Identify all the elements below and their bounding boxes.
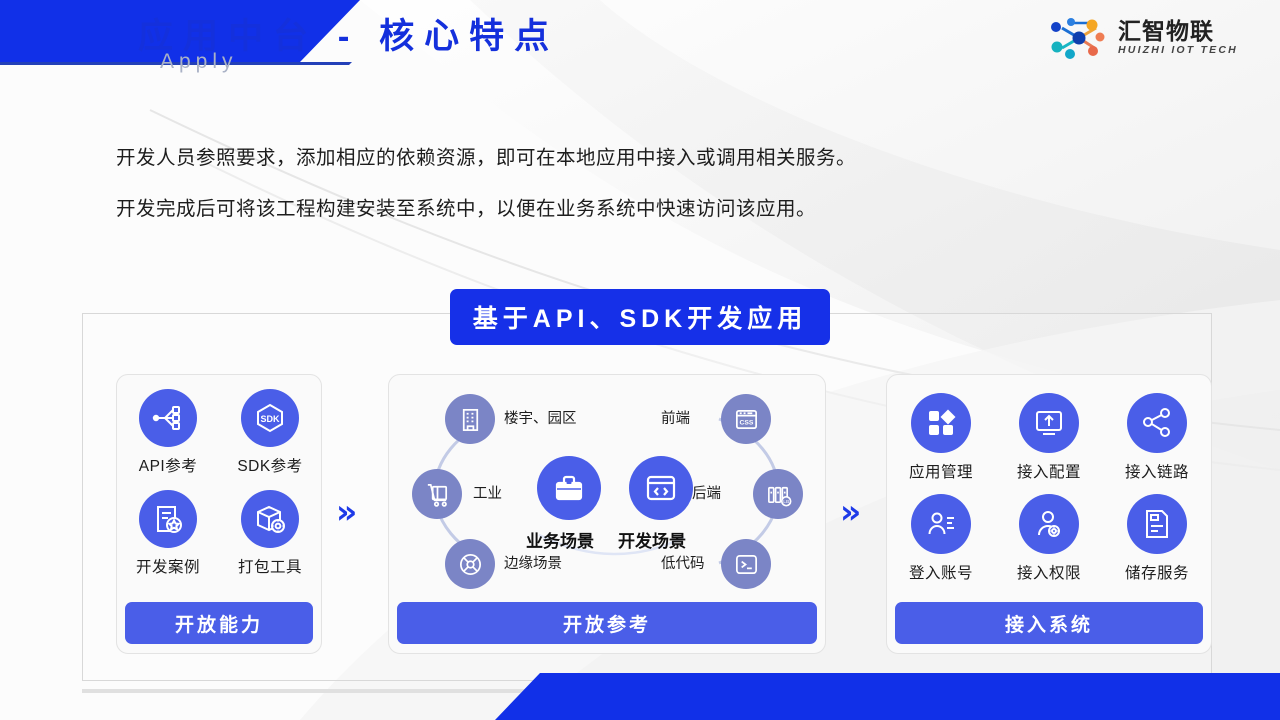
- card-access-system[interactable]: 应用管理 接入配置 接入链路: [886, 374, 1212, 654]
- body-paragraph-2: 开发完成后可将该工程构建安装至系统中，以便在业务系统中快速访问该应用。: [116, 192, 816, 221]
- share-nodes-icon: [1127, 393, 1187, 453]
- tile-label: 接入链路: [1125, 460, 1189, 482]
- chevron-right-icon-2: »: [840, 492, 855, 531]
- sdk-cube-icon: SDK: [241, 389, 299, 447]
- page-subtitle: Apply: [160, 50, 238, 74]
- satellite-building[interactable]: [445, 394, 495, 444]
- tile-sdk-reference[interactable]: SDK SDK参考: [228, 389, 312, 476]
- satellite-label-edge: 边缘场景: [504, 552, 562, 573]
- tile-api-reference[interactable]: API参考: [126, 389, 210, 476]
- api-branch-icon: [139, 389, 197, 447]
- tile-label: 应用管理: [909, 460, 973, 482]
- tile-access-link[interactable]: 接入链路: [1110, 393, 1204, 482]
- hub-dev-scenario[interactable]: [629, 456, 693, 520]
- satellite-label-frontend: 前端: [661, 407, 690, 428]
- tile-dev-case[interactable]: 开发案例: [126, 490, 210, 577]
- document-star-icon: [139, 490, 197, 548]
- satellite-label-backend: 后端: [692, 482, 721, 503]
- molecule-network-icon: [1048, 16, 1110, 60]
- tile-access-permission[interactable]: 接入权限: [1002, 494, 1096, 583]
- grid-blocks-icon: [911, 393, 971, 453]
- diagram-banner: 基于API、SDK开发应用: [450, 289, 830, 345]
- satellite-label-lowcode: 低代码: [661, 552, 705, 573]
- hub-label-dev: 开发场景: [618, 527, 686, 552]
- user-list-icon: [911, 494, 971, 554]
- card-open-capability[interactable]: API参考 SDK SDK参考 开发案例: [116, 374, 322, 654]
- svg-text:SDK: SDK: [260, 414, 280, 424]
- body-paragraph-1: 开发人员参照要求，添加相应的依赖资源，即可在本地应用中接入或调用相关服务。: [116, 141, 856, 170]
- package-gear-icon: [241, 490, 299, 548]
- tile-label: 登入账号: [909, 561, 973, 583]
- logo-name-en: HUIZHI IOT TECH: [1118, 43, 1238, 58]
- file-storage-icon: [1127, 494, 1187, 554]
- svg-text:CSS: CSS: [739, 419, 753, 426]
- tile-storage-service[interactable]: 储存服务: [1110, 494, 1204, 583]
- brand-logo: 汇智物联 HUIZHI IOT TECH: [1048, 12, 1258, 64]
- middle-card-button[interactable]: 开放参考: [397, 602, 817, 644]
- tile-label: 开发案例: [136, 555, 200, 577]
- tile-label: 接入配置: [1017, 460, 1081, 482]
- left-card-tiles: API参考 SDK SDK参考 开发案例: [117, 389, 321, 587]
- satellite-frontend[interactable]: CSS: [721, 394, 771, 444]
- tile-label: SDK参考: [237, 454, 302, 476]
- satellite-lowcode[interactable]: [721, 539, 771, 589]
- right-card-tiles: 应用管理 接入配置 接入链路: [887, 393, 1211, 593]
- satellite-backend[interactable]: LB: [753, 469, 803, 519]
- satellite-label-building: 楼宇、园区: [504, 407, 577, 428]
- tile-label: 接入权限: [1017, 561, 1081, 583]
- hub-business-scenario[interactable]: [537, 456, 601, 520]
- tile-label: API参考: [139, 454, 197, 476]
- tile-label: 打包工具: [238, 555, 302, 577]
- hub-label-business: 业务场景: [526, 527, 594, 552]
- left-card-button[interactable]: 开放能力: [125, 602, 313, 644]
- monitor-upload-icon: [1019, 393, 1079, 453]
- tile-app-management[interactable]: 应用管理: [894, 393, 988, 482]
- tile-access-config[interactable]: 接入配置: [1002, 393, 1096, 482]
- chevron-right-icon-1: »: [336, 492, 351, 531]
- tile-packaging-tool[interactable]: 打包工具: [228, 490, 312, 577]
- svg-text:LB: LB: [783, 499, 789, 505]
- satellite-industry[interactable]: [412, 469, 462, 519]
- satellite-edge[interactable]: [445, 539, 495, 589]
- slide-header: 应用中台 - 核心特点 Apply 汇智物联 HUIZHI IOT TECH: [0, 0, 1280, 72]
- tile-login-account[interactable]: 登入账号: [894, 494, 988, 583]
- tile-label: 储存服务: [1125, 561, 1189, 583]
- user-gear-icon: [1019, 494, 1079, 554]
- right-card-button[interactable]: 接入系统: [895, 602, 1203, 644]
- card-open-reference[interactable]: 楼宇、园区 工业 边缘场景 CSS: [388, 374, 826, 654]
- satellite-label-industry: 工业: [473, 482, 502, 503]
- logo-name-cn: 汇智物联: [1118, 19, 1238, 43]
- scenario-diagram: 楼宇、园区 工业 边缘场景 CSS: [389, 375, 827, 603]
